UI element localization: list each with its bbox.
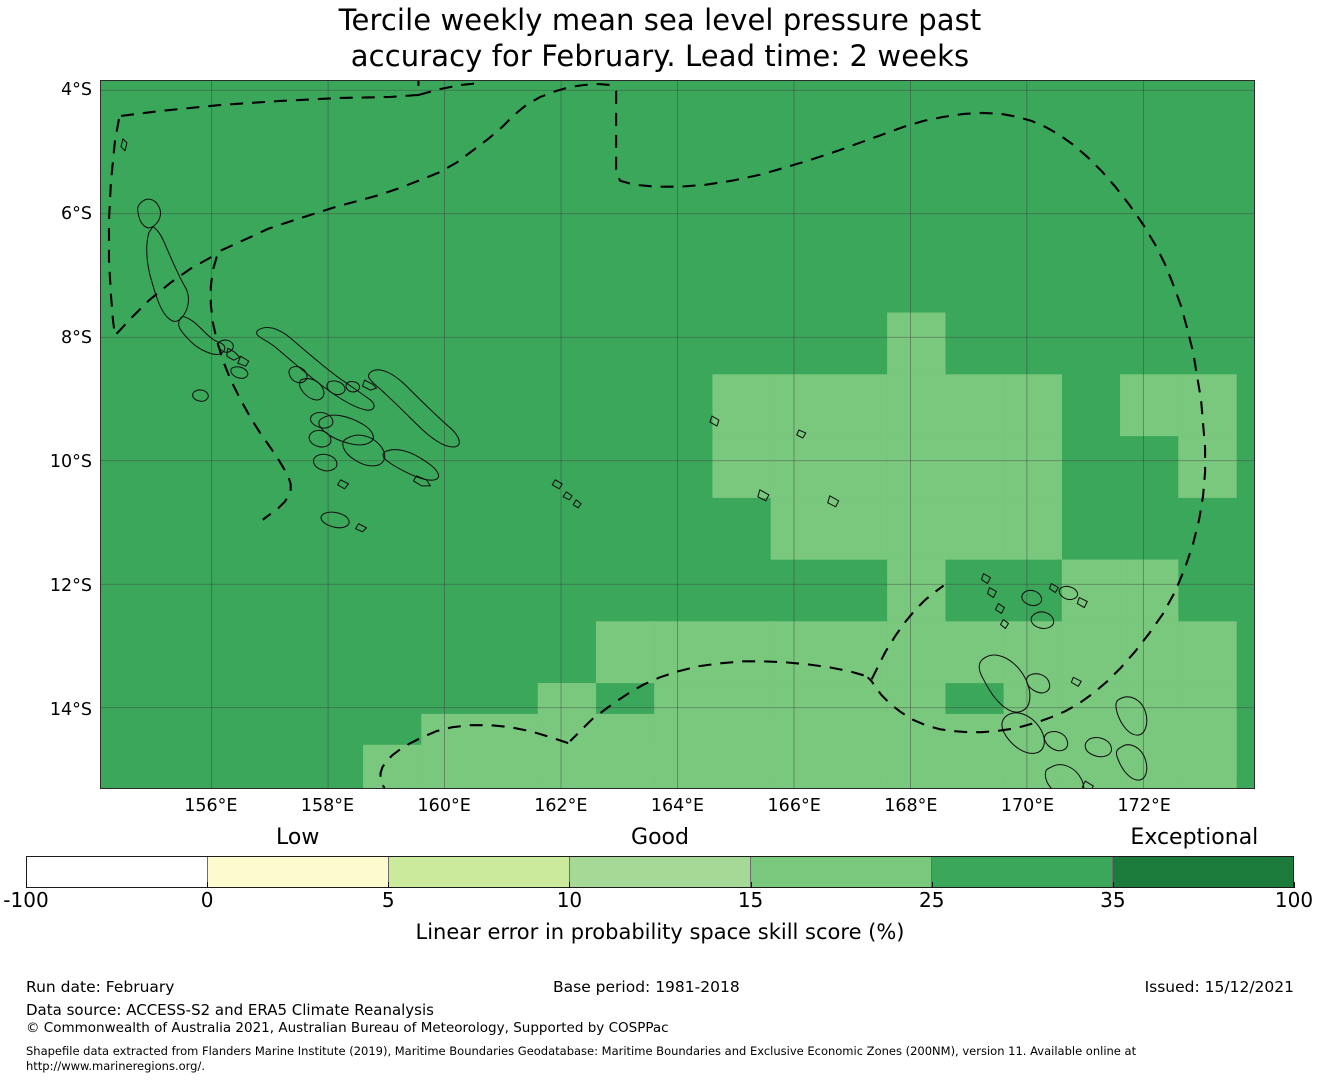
colorbar[interactable] xyxy=(26,856,1294,888)
copyright-text: © Commonwealth of Australia 2021, Austra… xyxy=(26,1020,669,1036)
colorbar-segment-1[interactable] xyxy=(208,857,389,887)
base-period-text: Base period: 1981-2018 xyxy=(553,978,740,996)
colorbar-tick-7: 100 xyxy=(1275,888,1313,912)
colorbar-tick-mark-3 xyxy=(569,882,570,888)
colorbar-tick-5: 25 xyxy=(919,888,944,912)
y-axis-tick-5: 14°S xyxy=(20,700,92,720)
shapefile-line-2: http://www.marineregions.org/. xyxy=(26,1059,205,1073)
y-axis-tick-1: 6°S xyxy=(20,204,92,224)
colorbar-tick-mark-4 xyxy=(751,882,752,888)
colorbar-category-low: Low xyxy=(276,825,319,850)
colorbar-tick-4: 15 xyxy=(738,888,763,912)
data-source-text: Data source: ACCESS-S2 and ERA5 Climate … xyxy=(26,1001,434,1019)
x-axis-tick-7: 170°E xyxy=(1001,796,1054,816)
colorbar-category-good: Good xyxy=(631,825,689,850)
x-axis-tick-4: 164°E xyxy=(651,796,704,816)
colorbar-axis-label: Linear error in probability space skill … xyxy=(0,920,1320,944)
x-axis-tick-2: 160°E xyxy=(418,796,471,816)
colorbar-tick-mark-1 xyxy=(207,882,208,888)
x-axis-tick-6: 168°E xyxy=(884,796,937,816)
colorbar-segment-0[interactable] xyxy=(27,857,208,887)
y-axis-labels: 4°S6°S8°S10°S12°S14°S xyxy=(8,80,92,789)
colorbar-tick-mark-0 xyxy=(26,882,27,888)
colorbar-tick-mark-2 xyxy=(388,882,389,888)
colorbar-tick-6: 35 xyxy=(1100,888,1125,912)
colorbar-tick-1: 0 xyxy=(201,888,214,912)
x-axis-tick-5: 166°E xyxy=(768,796,821,816)
x-axis-tick-1: 158°E xyxy=(301,796,354,816)
x-axis-tick-3: 162°E xyxy=(534,796,587,816)
shapefile-attribution: Shapefile data extracted from Flanders M… xyxy=(26,1044,1296,1074)
map-plot-area[interactable] xyxy=(100,80,1255,789)
issued-date-text: Issued: 15/12/2021 xyxy=(1145,978,1294,996)
title-line-1: Tercile weekly mean sea level pressure p… xyxy=(0,2,1320,38)
colorbar-category-exceptional: Exceptional xyxy=(1130,825,1258,850)
colorbar-tick-mark-5 xyxy=(932,882,933,888)
y-axis-tick-0: 4°S xyxy=(20,80,92,100)
colorbar-category-labels: LowGoodExceptional xyxy=(0,825,1320,855)
colorbar-tick-mark-6 xyxy=(1113,882,1114,888)
x-axis-labels: 156°E158°E160°E162°E164°E166°E168°E170°E… xyxy=(100,796,1255,824)
colorbar-segment-2[interactable] xyxy=(389,857,570,887)
colorbar-segment-5[interactable] xyxy=(932,857,1113,887)
y-axis-tick-2: 8°S xyxy=(20,328,92,348)
colorbar-tick-mark-7 xyxy=(1294,882,1295,888)
title-line-2: accuracy for February. Lead time: 2 week… xyxy=(0,38,1320,74)
x-axis-tick-0: 156°E xyxy=(184,796,237,816)
metadata-row: Run date: February Base period: 1981-201… xyxy=(0,978,1320,1000)
colorbar-tick-0: -100 xyxy=(3,888,48,912)
colorbar-tick-2: 5 xyxy=(382,888,395,912)
colorbar-tick-labels: -1000510152535100 xyxy=(0,888,1320,914)
y-axis-tick-4: 12°S xyxy=(20,576,92,596)
run-date-text: Run date: February xyxy=(26,978,174,996)
colorbar-segment-3[interactable] xyxy=(570,857,751,887)
colorbar-tick-3: 10 xyxy=(557,888,582,912)
shapefile-line-1: Shapefile data extracted from Flanders M… xyxy=(26,1044,1136,1058)
colorbar-segment-4[interactable] xyxy=(751,857,932,887)
colorbar-segment-6[interactable] xyxy=(1113,857,1293,887)
x-axis-tick-8: 172°E xyxy=(1118,796,1171,816)
page-title: Tercile weekly mean sea level pressure p… xyxy=(0,2,1320,74)
y-axis-tick-3: 10°S xyxy=(20,452,92,472)
eez-boundary-overlay xyxy=(101,81,1254,788)
